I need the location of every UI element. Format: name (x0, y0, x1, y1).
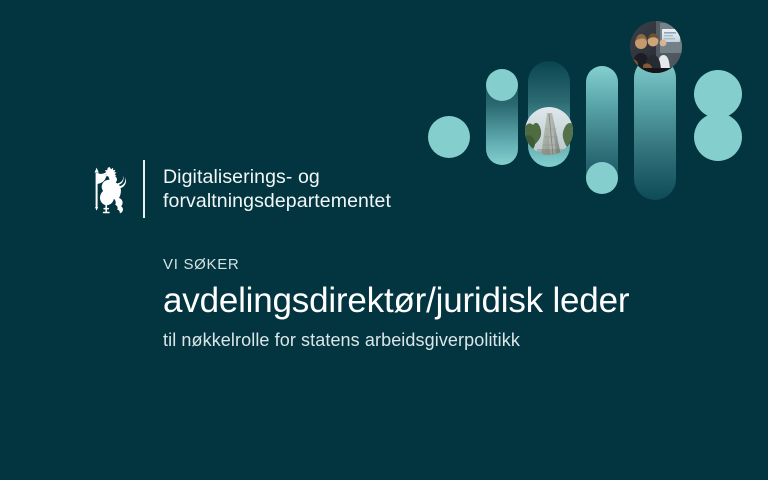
pill-5-shape (634, 57, 676, 200)
dot-4-cap-shape (586, 162, 618, 194)
job-subtitle: til nøkkelrolle for statens arbeidsgiver… (163, 328, 743, 352)
dot-2-cap-shape (486, 69, 518, 101)
eyebrow-label: VI SØKER (163, 255, 743, 274)
dot-1-shape (428, 116, 470, 158)
headline-block: VI SØKER avdelingsdirektør/juridisk lede… (163, 255, 743, 352)
photo-meeting (630, 21, 682, 73)
dot-6-top-shape (694, 70, 742, 118)
logo-divider (143, 160, 145, 218)
decorative-graphic (424, 0, 768, 210)
job-ad-banner: Digitaliserings- og forvaltningsdepartem… (0, 0, 768, 480)
norwegian-coat-of-arms-lion-icon (88, 163, 130, 215)
photo-building (525, 107, 573, 155)
job-title: avdelingsdirektør/juridisk leder (163, 280, 743, 322)
dot-6-bottom-shape (694, 113, 742, 161)
logo-lockup: Digitaliserings- og forvaltningsdepartem… (88, 160, 391, 218)
organization-name: Digitaliserings- og forvaltningsdepartem… (163, 165, 391, 213)
